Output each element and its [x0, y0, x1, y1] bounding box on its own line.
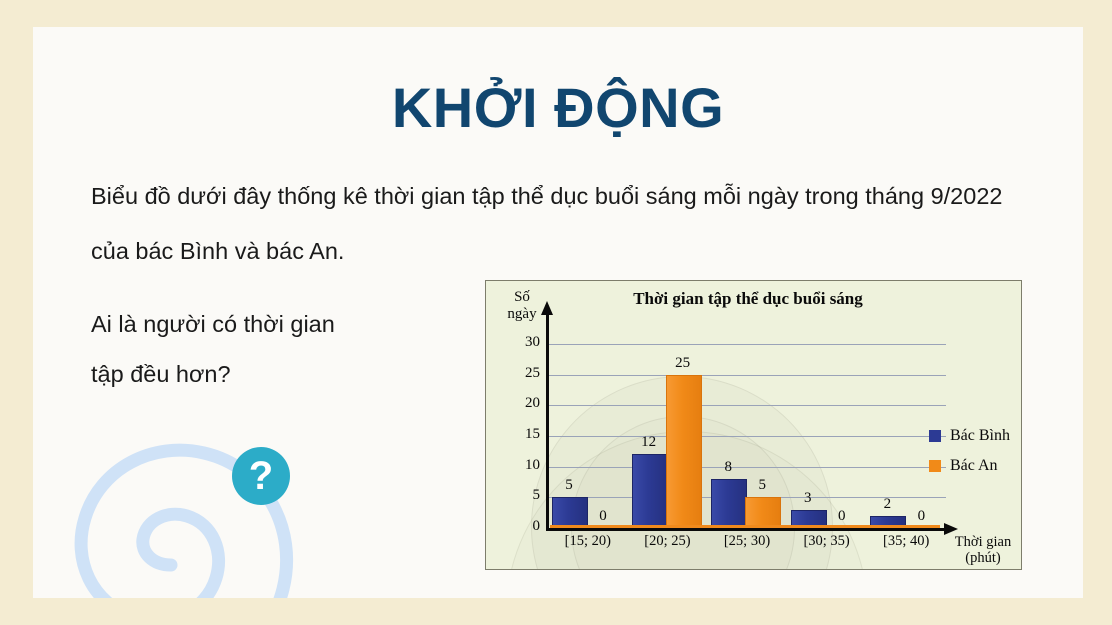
x-axis-label-line-2: (phút): [938, 550, 1022, 566]
legend-label: Bác Bình: [950, 427, 1010, 445]
legend-label: Bác An: [950, 457, 998, 475]
x-axis-tick-label: [15; 20): [543, 533, 633, 550]
question-mark-icon: ?: [232, 447, 290, 505]
question-line-1: Ai là người có thời gian: [91, 299, 481, 349]
bar-value-label: 0: [822, 508, 862, 525]
bar-value-label: 3: [788, 490, 828, 507]
y-axis-tick-label: 15: [500, 426, 540, 443]
y-axis-tick-label: 5: [500, 487, 540, 504]
y-axis-tick-label: 0: [500, 518, 540, 535]
bar-value-label: 0: [583, 508, 623, 525]
slide-canvas: KHỞI ĐỘNG Biểu đồ dưới đây thống kê thời…: [0, 0, 1112, 625]
x-axis-label-line-1: Thời gian: [938, 534, 1022, 550]
y-axis-arrow-icon: [541, 301, 553, 315]
plot-area: 051015202530 501225853020 [15; 20)[20; 2…: [486, 281, 1021, 569]
bar-value-label: 25: [663, 355, 703, 372]
question-line-2: tập đều hơn?: [91, 349, 481, 399]
intro-paragraph: Biểu đồ dưới đây thống kê thời gian tập …: [91, 169, 1031, 279]
gridline: [548, 436, 946, 437]
gridline: [548, 344, 946, 345]
x-axis-tick-label: [25; 30): [702, 533, 792, 550]
bar-value-label: 12: [629, 434, 669, 451]
legend-item: Bác Bình: [929, 421, 1010, 451]
legend-swatch-icon: [929, 460, 941, 472]
zero-baseline: [550, 525, 940, 528]
gridline: [548, 405, 946, 406]
slide-page: KHỞI ĐỘNG Biểu đồ dưới đây thống kê thời…: [33, 27, 1083, 598]
y-axis-tick-label: 30: [500, 334, 540, 351]
gridline: [548, 375, 946, 376]
y-axis-line: [546, 313, 549, 529]
x-axis-label: Thời gian (phút): [938, 534, 1022, 566]
bar-bac-binh: [632, 454, 668, 530]
x-axis-line: [546, 528, 946, 531]
question-text: Ai là người có thời gian tập đều hơn?: [91, 299, 481, 399]
bar-bac-an: [666, 375, 702, 530]
y-axis-tick-label: 20: [500, 395, 540, 412]
bar-value-label: 5: [549, 477, 589, 494]
legend-item: Bác An: [929, 451, 1010, 481]
bar-value-label: 8: [708, 459, 748, 476]
x-axis-tick-label: [30; 35): [782, 533, 872, 550]
bar-value-label: 0: [901, 508, 941, 525]
x-axis-tick-label: [20; 25): [622, 533, 712, 550]
page-title: KHỞI ĐỘNG: [33, 75, 1083, 140]
legend-swatch-icon: [929, 430, 941, 442]
bar-value-label: 5: [742, 477, 782, 494]
bar-chart: Thời gian tập thể dục buổi sáng Số ngày …: [485, 280, 1022, 570]
chart-legend: Bác BìnhBác An: [929, 421, 1010, 481]
y-axis-tick-label: 25: [500, 365, 540, 382]
y-axis-tick-label: 10: [500, 457, 540, 474]
spiral-decoration: [53, 422, 343, 598]
